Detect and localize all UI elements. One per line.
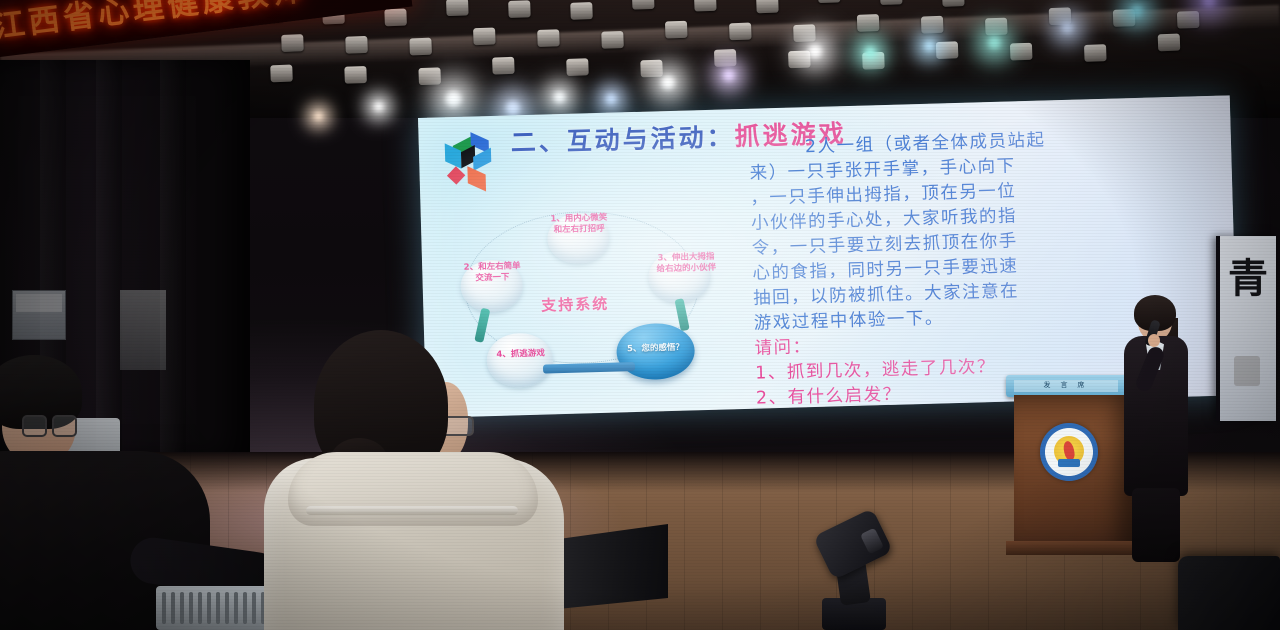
presenter — [1118, 300, 1192, 565]
right-stage-equipment — [1178, 556, 1280, 630]
calligraphy-character: 青 — [1220, 246, 1276, 304]
lamp-glow — [924, 40, 935, 51]
lamp-glow — [1131, 5, 1143, 17]
stage-lamp — [570, 2, 593, 20]
stage-lamp — [665, 21, 688, 39]
lamp-glow — [723, 69, 735, 81]
stage-lamp — [345, 36, 368, 54]
stage-lamp — [344, 66, 367, 84]
stage-lamp — [921, 16, 944, 34]
stage-lamp — [857, 14, 880, 32]
podium: 发 言 席 — [1014, 375, 1132, 555]
stage-lamp — [756, 0, 779, 13]
stage-lamp — [936, 41, 959, 59]
stage-lamp — [985, 18, 1008, 36]
stage-lamp — [418, 67, 441, 85]
stage-lamp — [537, 29, 560, 47]
stage-lamp — [729, 23, 752, 41]
stage-lamp — [492, 57, 515, 75]
eyeglasses-icon — [22, 415, 74, 435]
stage-lamp — [788, 50, 811, 68]
stage-lamp — [793, 24, 816, 42]
diagram-node-3-label: 3、伸出大拇指给右边的小伙伴 — [630, 251, 743, 276]
stage-lamp — [1177, 11, 1200, 29]
stage-lamp — [473, 27, 496, 45]
stage-lamp — [281, 34, 304, 52]
stage-lamp — [384, 9, 407, 27]
stage-lamp — [640, 60, 663, 78]
stage-lamp — [508, 0, 531, 18]
moving-head-light — [812, 520, 896, 630]
lamp-glow — [808, 44, 822, 58]
lamp-glow — [445, 91, 462, 108]
diagram-node-1-label: 1、用内心微笑和左右打招呼 — [529, 212, 630, 237]
stage-lamp — [714, 49, 737, 67]
lamp-glow — [553, 91, 565, 103]
stage-lamp — [446, 0, 469, 16]
stage-lamp — [1084, 44, 1107, 62]
slide-title-index: 二、互动与活动： — [510, 122, 735, 157]
stage-lamp — [1010, 43, 1033, 61]
cube-logo-icon — [442, 134, 506, 194]
lamp-glow — [1202, 0, 1215, 8]
diagram-node-2-label: 2、和左右简单交流一下 — [440, 261, 545, 286]
stage-lamp — [880, 0, 903, 5]
stage-lamp — [601, 31, 624, 49]
audience-member-center — [252, 330, 582, 630]
wall-panel — [12, 290, 66, 340]
stage-lamp — [566, 58, 589, 76]
wall-calligraphy-panel: 青 — [1216, 236, 1276, 421]
stage-lamp — [694, 0, 717, 11]
stage-lamp — [632, 0, 655, 10]
lamp-glow — [1061, 21, 1073, 33]
stage-lamp — [942, 0, 965, 7]
auditorium-scene: 江西省心理健康教师 二、互动与活动：抓逃游戏 1、用 — [0, 0, 1280, 630]
lamp-glow — [661, 75, 675, 89]
calligraphy-seal — [1234, 356, 1260, 386]
stage-lamp — [818, 0, 841, 3]
podium-nameplate: 发 言 席 — [1014, 380, 1118, 392]
school-emblem-icon — [1040, 423, 1098, 481]
diagram-center-label: 支持系统 — [541, 293, 610, 316]
slide-body-text: 2人一组（或者全体成员站起 来）一只手张开手掌，手心向下 ，一只手伸出拇指，顶在… — [749, 127, 1112, 412]
stage-lamp — [1158, 34, 1181, 52]
lamp-glow — [988, 36, 1001, 49]
stage-lamp — [270, 65, 293, 83]
stage-lamp — [409, 38, 432, 56]
